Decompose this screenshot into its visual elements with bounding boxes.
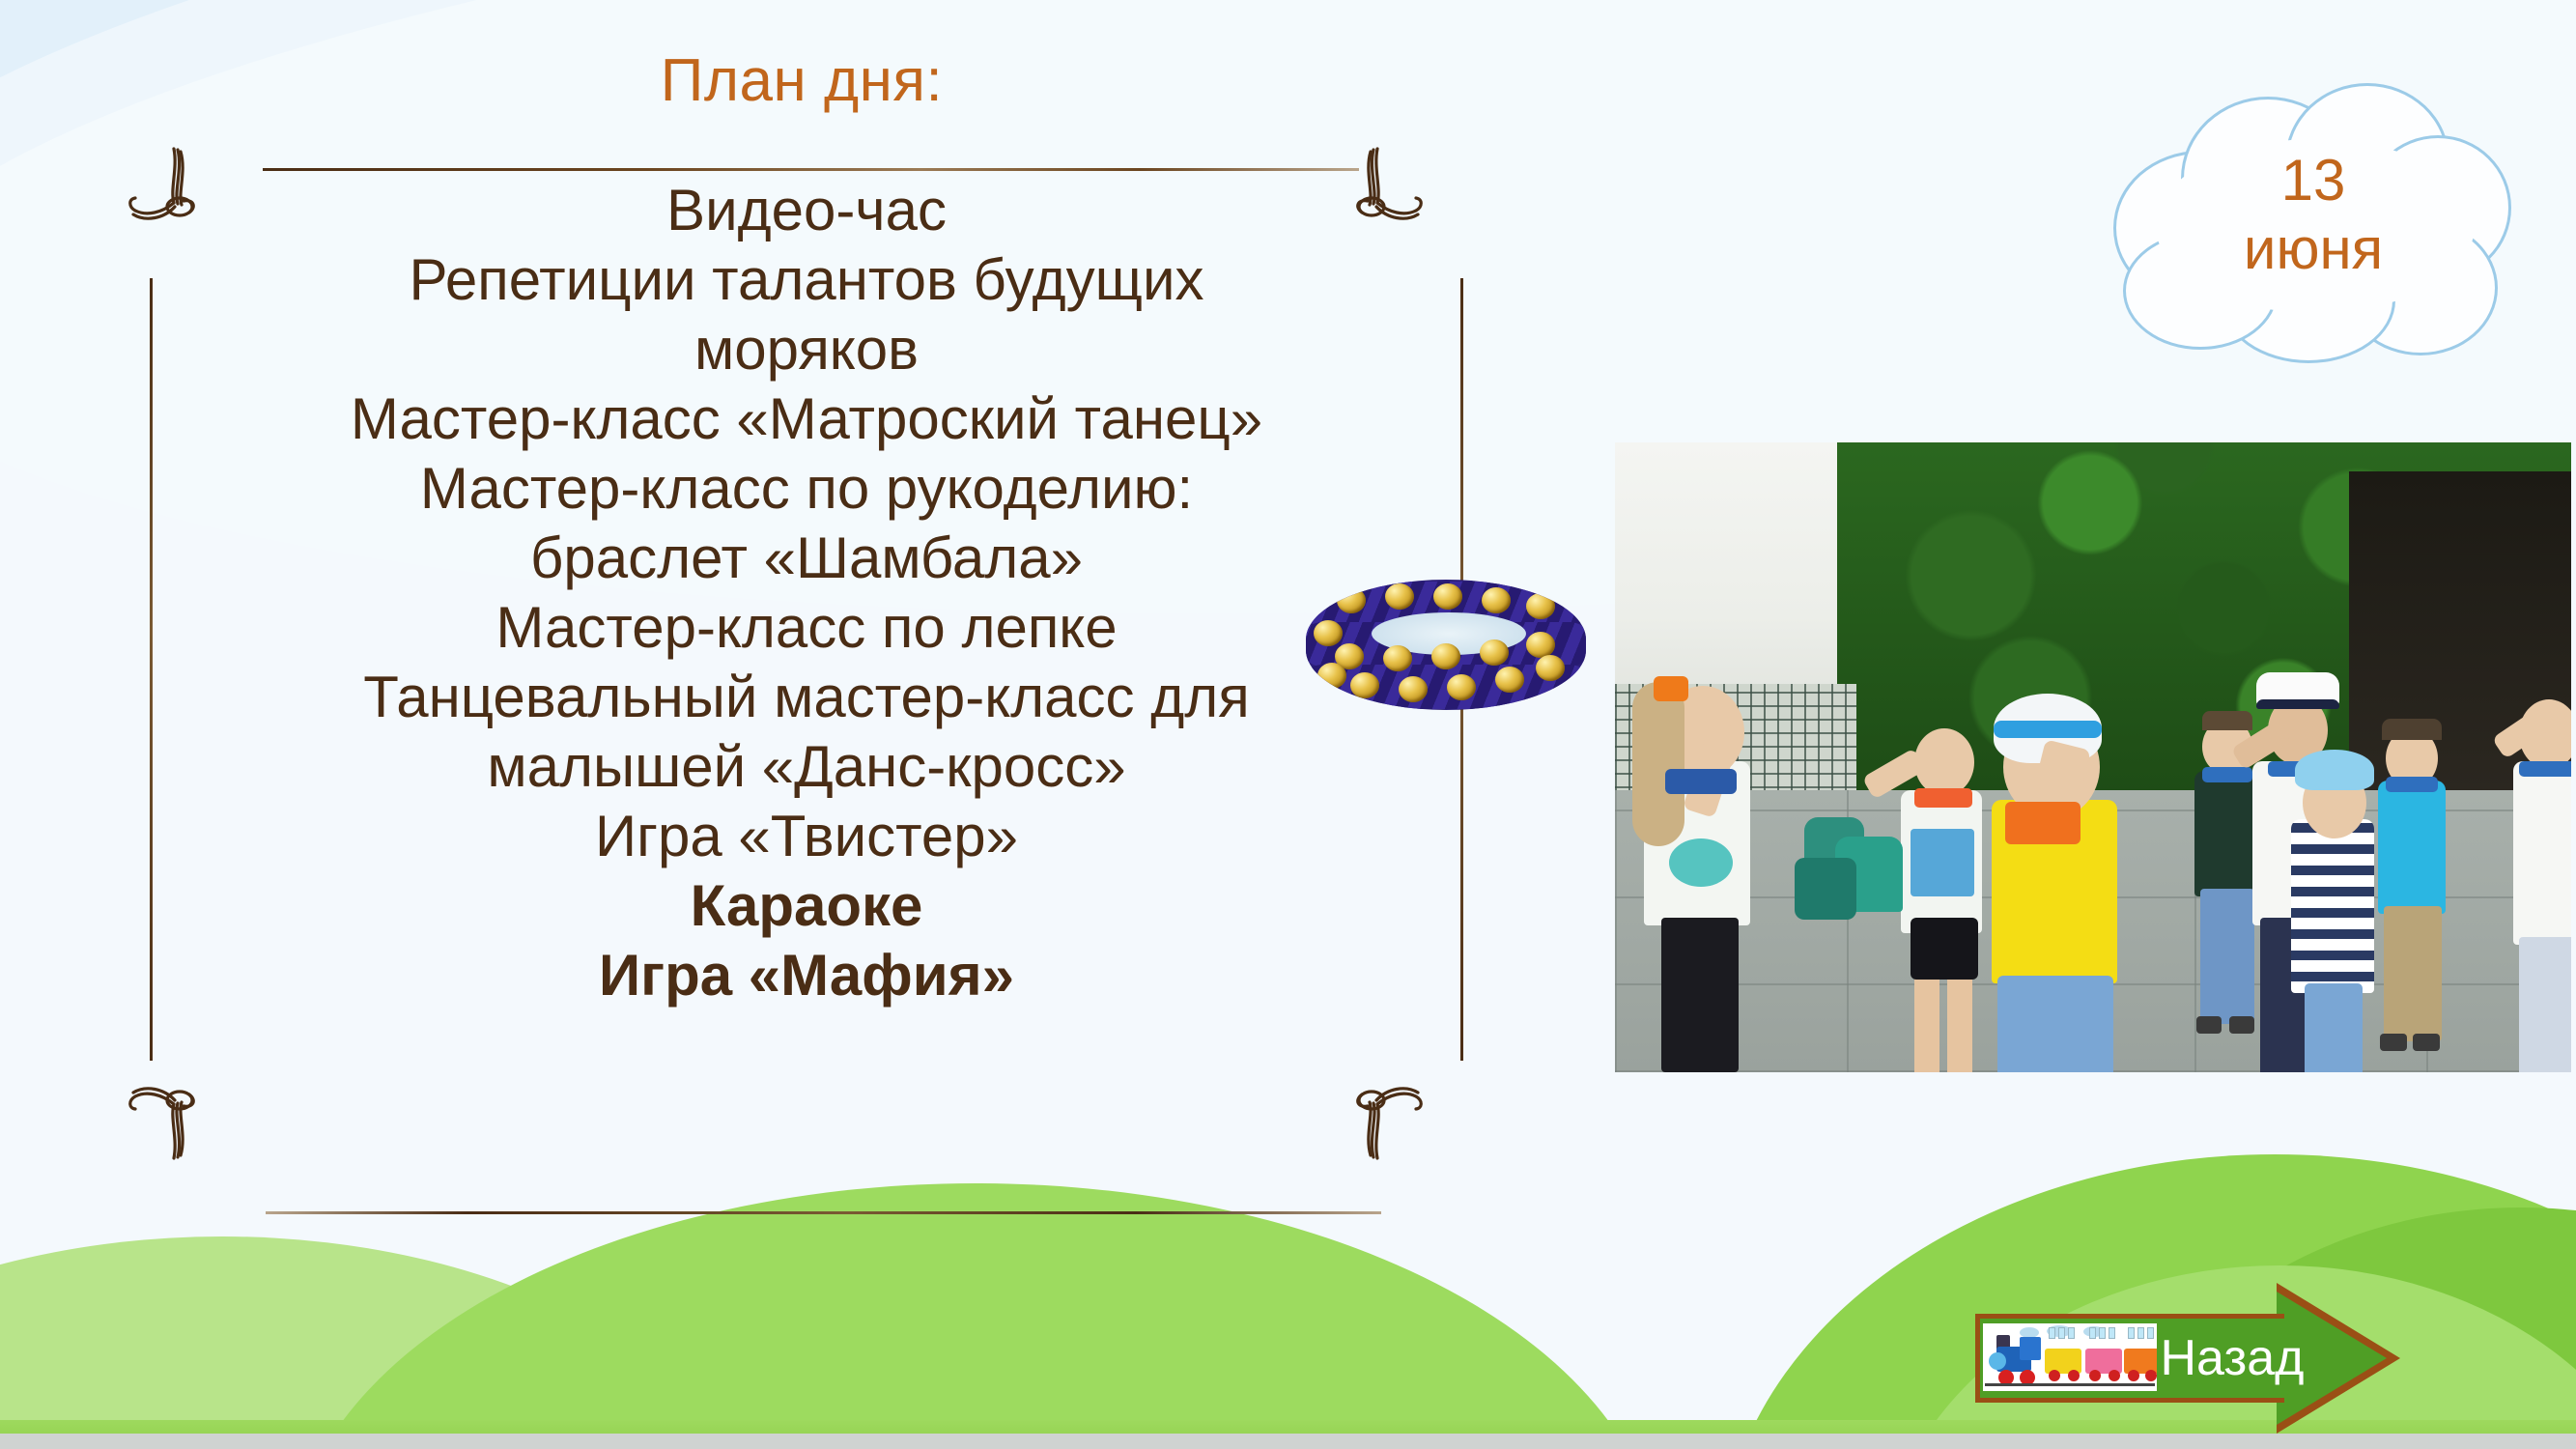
- frame-line-bottom: [266, 1211, 1381, 1214]
- frame-line-top: [263, 168, 1359, 171]
- agenda-item: Игра «Твистер»: [164, 802, 1449, 871]
- page-title: План дня:: [0, 46, 1603, 115]
- agenda-item: Мастер-класс «Матроский танец»: [164, 384, 1449, 454]
- agenda-item: Танцевальный мастер-класс для малышей «Д…: [164, 663, 1449, 802]
- back-button-label: Назад: [2145, 1331, 2319, 1385]
- shambala-bracelet-image: [1306, 580, 1586, 710]
- ornamental-flourish-icon: [1321, 1053, 1437, 1164]
- date-badge: 13 июня: [2106, 75, 2521, 355]
- children-saluting-photo: [1615, 442, 2571, 1072]
- hill-2: [290, 1183, 1661, 1449]
- date-month: июня: [2244, 215, 2383, 284]
- agenda-list: Видео-часРепетиции талантов будущих моря…: [164, 176, 1449, 1010]
- agenda-item: Игра «Мафия»: [164, 941, 1449, 1010]
- slide-bottom-edge: [0, 1434, 2576, 1449]
- agenda-item: Мастер-класс по рукоделию: браслет «Шамб…: [164, 454, 1449, 593]
- agenda-item: Караоке: [164, 871, 1449, 941]
- back-button[interactable]: Назад: [1975, 1291, 2400, 1426]
- train-icon: [1983, 1323, 2157, 1391]
- date-day: 13: [2281, 147, 2346, 215]
- agenda-item: Видео-час: [164, 176, 1449, 245]
- agenda-item: Мастер-класс по лепке: [164, 593, 1449, 663]
- frame-line-left: [150, 278, 153, 1061]
- slide-canvas: План дня: 13 июня: [0, 0, 2576, 1449]
- ornamental-flourish-icon: [114, 1053, 230, 1164]
- agenda-item: Репетиции талантов будущих моряков: [164, 245, 1449, 384]
